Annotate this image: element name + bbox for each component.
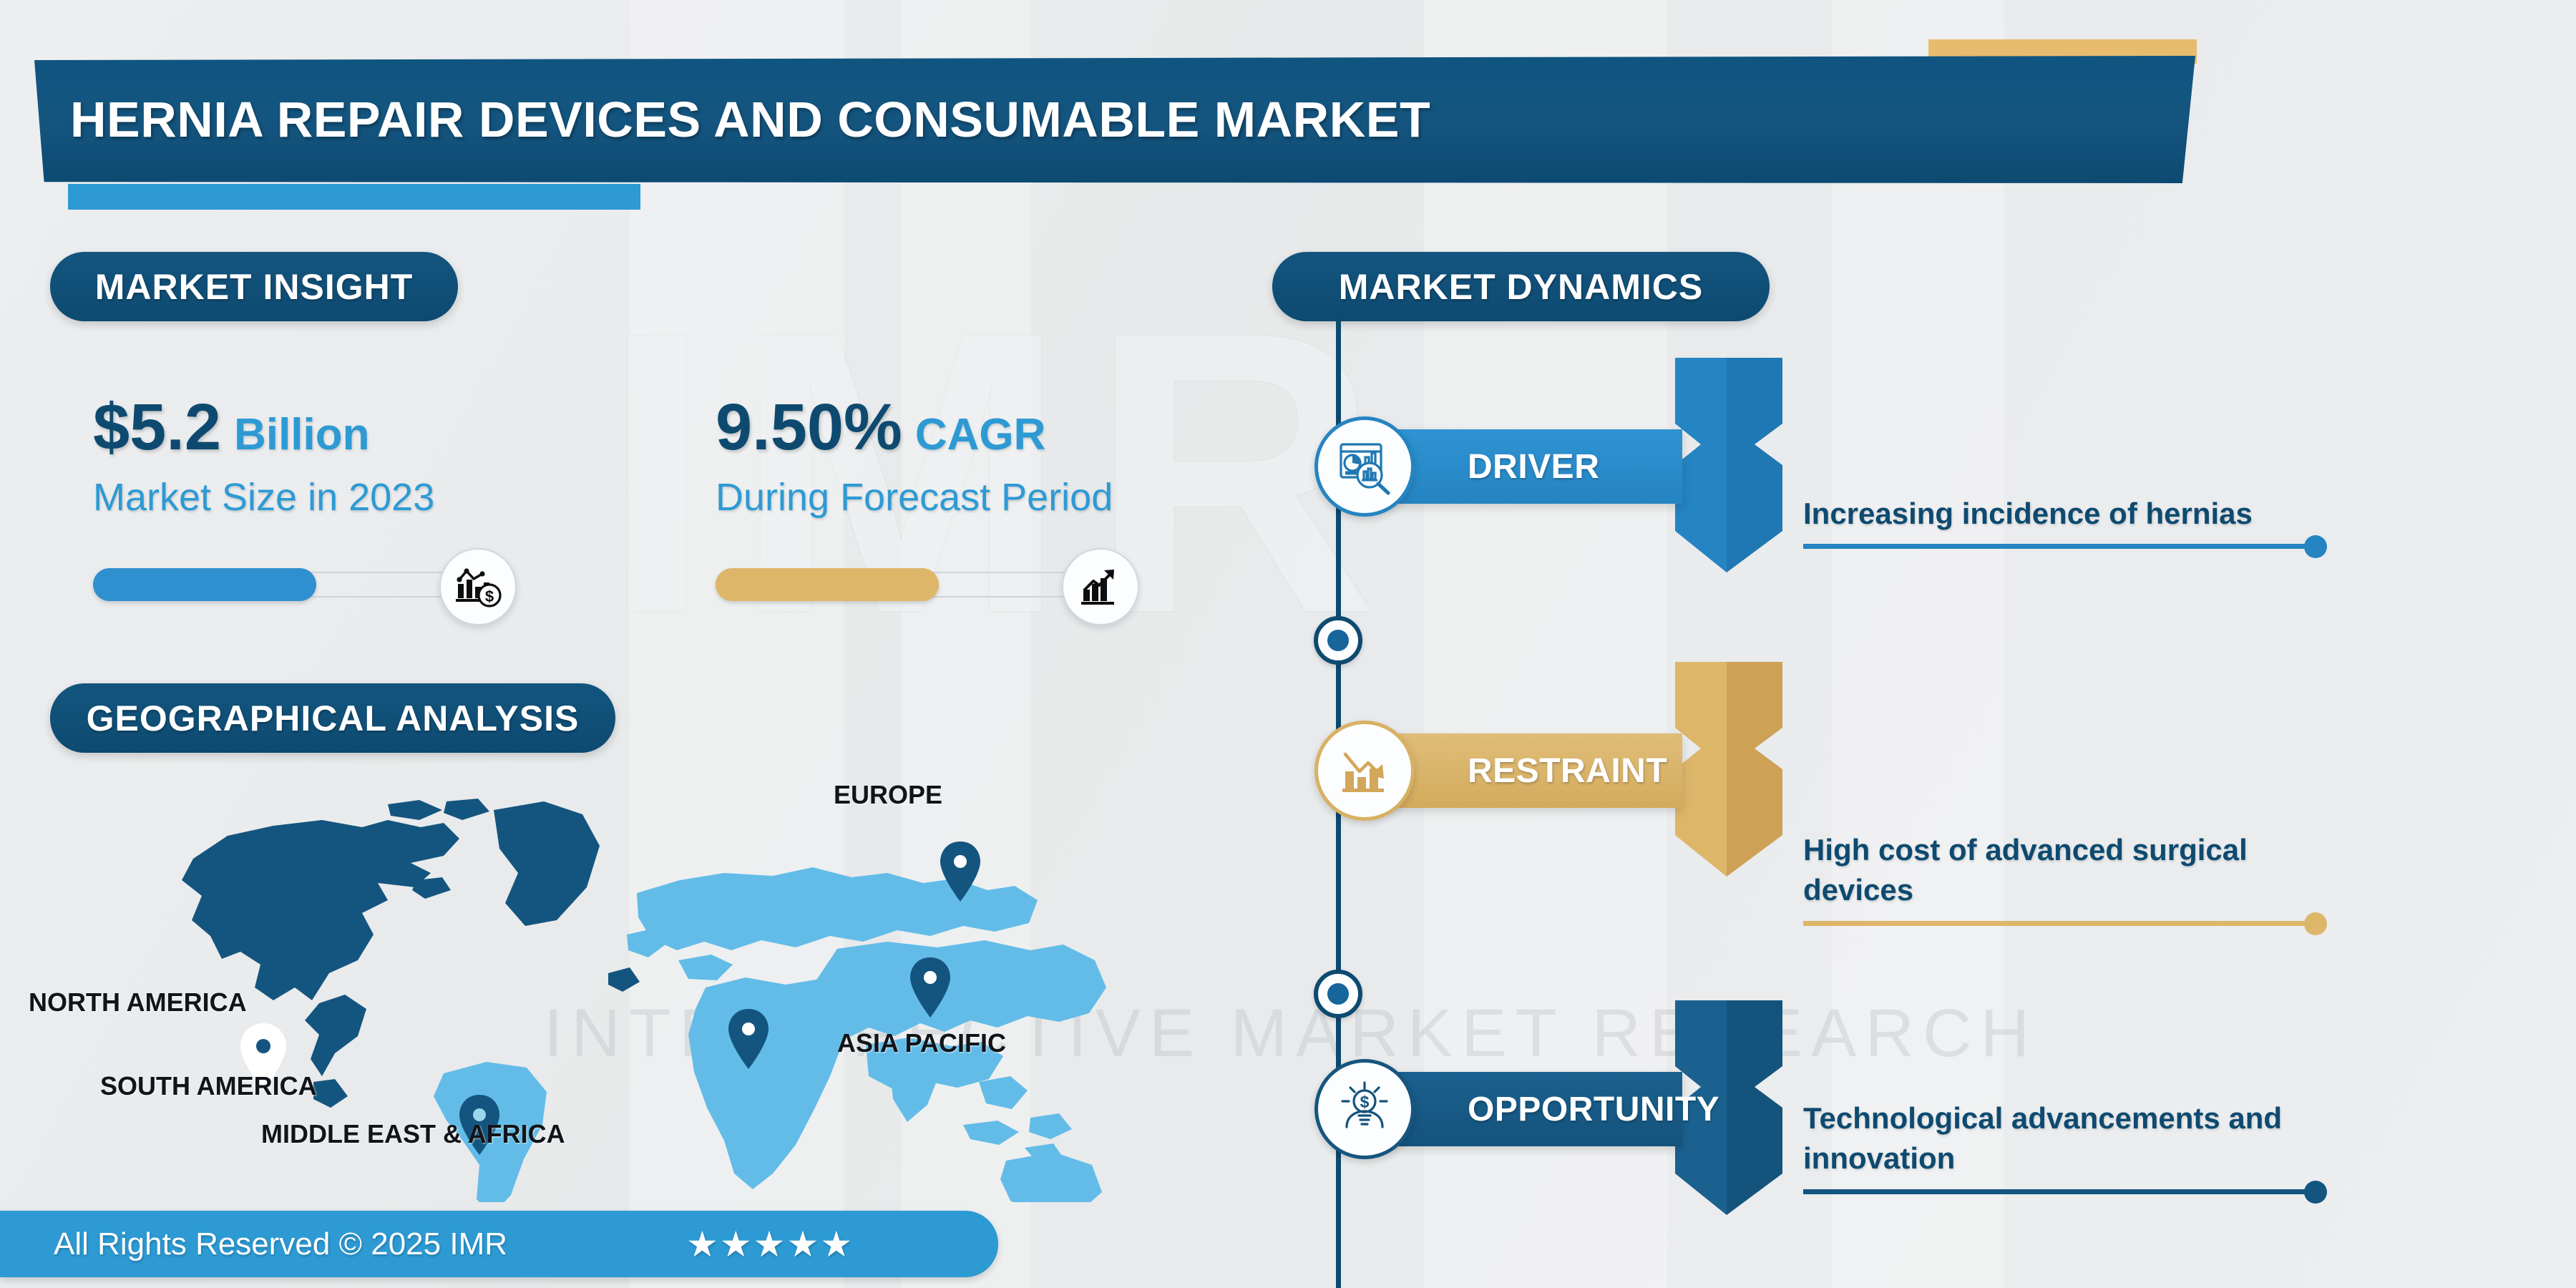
- dynamics-item-restraint[interactable]: RESTRAINT: [1339, 733, 1682, 808]
- map-region-middle-east-africa: [688, 977, 912, 1189]
- restraint-callout: High cost of advanced surgical devices: [1803, 830, 2318, 926]
- background-stripe: [1832, 0, 2004, 1288]
- section-heading-geographical-analysis: GEOGRAPHICAL ANALYSIS: [50, 683, 615, 753]
- restraint-callout-knob: [2304, 912, 2327, 935]
- driver-callout-text: Increasing incidence of hernias: [1803, 494, 2318, 534]
- opportunity-callout: Technological advancements and innovatio…: [1803, 1098, 2318, 1194]
- lightbulb-dollar-icon: $: [1314, 1059, 1415, 1159]
- driver-callout-knob: [2304, 535, 2327, 558]
- opportunity-label: OPPORTUNITY: [1468, 1090, 1719, 1129]
- declining-chart-icon: [1314, 721, 1415, 821]
- cagr-value: 9.50%: [716, 390, 902, 465]
- map-label-south-america: SOUTH AMERICA: [100, 1071, 317, 1101]
- map-label-north-america: NORTH AMERICA: [29, 987, 247, 1018]
- progress-fill: [93, 568, 316, 601]
- metric-value-row: $5.2 Billion: [93, 390, 434, 465]
- market-size-caption: Market Size in 2023: [93, 475, 434, 519]
- ribbon-tail: [1675, 662, 1782, 877]
- driver-callout: Increasing incidence of hernias: [1803, 494, 2318, 549]
- market-dynamics-heading-label: MARKET DYNAMICS: [1339, 266, 1703, 308]
- world-map: NORTH AMERICA SOUTH AMERICA MIDDLE EAST …: [107, 773, 1131, 1202]
- market-size-unit: Billion: [234, 409, 369, 460]
- cagr-caption: During Forecast Period: [716, 475, 1113, 519]
- analytics-search-icon: [1314, 416, 1415, 517]
- progress-fill: [716, 568, 939, 601]
- section-heading-market-dynamics: MARKET DYNAMICS: [1272, 252, 1770, 321]
- header-underline-accent: [68, 184, 640, 210]
- opportunity-callout-rule: [1803, 1189, 2318, 1194]
- growth-arrow-chart-icon: [1062, 548, 1139, 625]
- opportunity-callout-knob: [2304, 1181, 2327, 1204]
- restraint-callout-text: High cost of advanced surgical devices: [1803, 830, 2318, 911]
- dynamics-item-driver[interactable]: DRIVER: [1339, 429, 1682, 504]
- cagr-progress-bar: [716, 565, 1088, 604]
- timeline-node-1: [1314, 616, 1362, 665]
- map-label-middle-east-africa: MIDDLE EAST & AFRICA: [261, 1119, 565, 1149]
- copyright-text: All Rights Reserved © 2025 IMR: [54, 1226, 507, 1262]
- infographic-root: IMR INTROSPECTIVE MARKET RESEARCH HERNIA…: [0, 0, 2576, 1288]
- driver-callout-rule: [1803, 544, 2318, 549]
- metric-value-row: 9.50% CAGR: [716, 390, 1113, 465]
- ribbon-tail: [1675, 358, 1782, 572]
- page-title: HERNIA REPAIR DEVICES AND CONSUMABLE MAR…: [70, 91, 1430, 148]
- svg-text:$: $: [485, 587, 494, 605]
- market-size-value: $5.2: [93, 390, 221, 465]
- svg-text:$: $: [1360, 1093, 1370, 1111]
- section-heading-market-insight: MARKET INSIGHT: [50, 252, 458, 321]
- map-label-europe: EUROPE: [834, 780, 942, 810]
- market-insight-heading-label: MARKET INSIGHT: [95, 266, 414, 308]
- map-region-australia: [1000, 1152, 1131, 1202]
- header-bar: HERNIA REPAIR DEVICES AND CONSUMABLE MAR…: [34, 56, 2195, 183]
- rating-stars: ★★★★★: [686, 1224, 854, 1265]
- timeline-node-2: [1314, 970, 1362, 1018]
- cagr-unit: CAGR: [915, 409, 1046, 460]
- metric-market-size: $5.2 Billion Market Size in 2023: [93, 390, 434, 519]
- metric-cagr: 9.50% CAGR During Forecast Period: [716, 390, 1113, 519]
- map-label-asia-pacific: ASIA PACIFIC: [837, 1028, 1006, 1058]
- footer-bar: All Rights Reserved © 2025 IMR ★★★★★: [0, 1211, 998, 1277]
- bar-chart-dollar-icon: $: [439, 548, 517, 625]
- geographical-analysis-heading-label: GEOGRAPHICAL ANALYSIS: [87, 698, 580, 739]
- driver-label: DRIVER: [1468, 447, 1599, 487]
- restraint-callout-rule: [1803, 921, 2318, 926]
- market-size-progress-bar: $: [93, 565, 465, 604]
- dynamics-item-opportunity[interactable]: OPPORTUNITY $: [1339, 1072, 1682, 1146]
- restraint-label: RESTRAINT: [1468, 751, 1667, 791]
- opportunity-callout-text: Technological advancements and innovatio…: [1803, 1098, 2318, 1179]
